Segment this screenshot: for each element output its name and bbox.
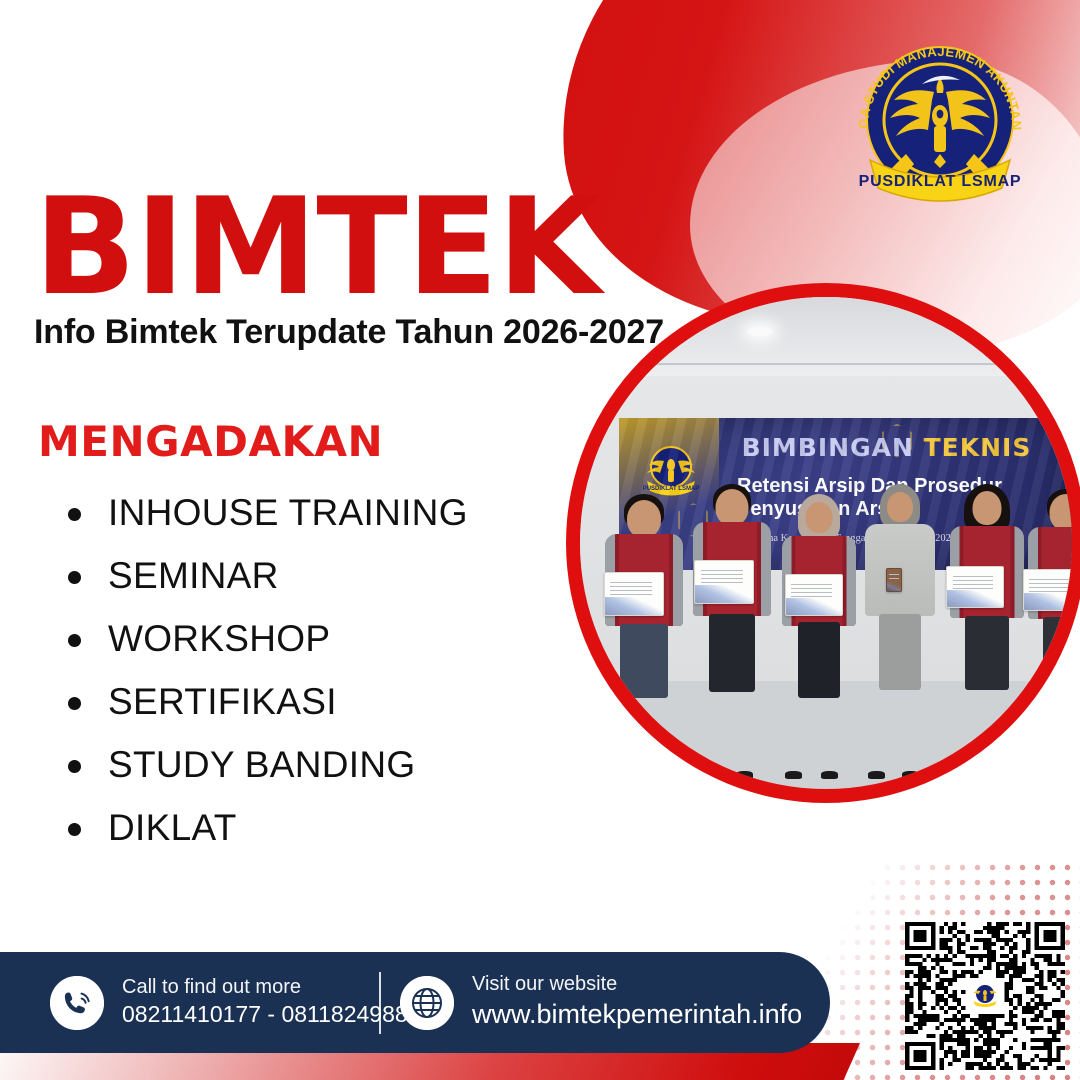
website-label: Visit our website bbox=[472, 972, 802, 997]
participant bbox=[688, 484, 776, 779]
logo-star: ★ bbox=[935, 140, 946, 154]
globe-icon bbox=[400, 976, 454, 1030]
logo-banner-text: PUSDIKLAT LSMAP bbox=[859, 173, 1022, 190]
participant bbox=[944, 484, 1030, 779]
page-title: BIMTEK bbox=[34, 186, 664, 309]
list-item: SEMINAR bbox=[60, 555, 468, 597]
services-list: INHOUSE TRAINING SEMINAR WORKSHOP SERTIF… bbox=[60, 492, 468, 870]
pusdiklat-lsmap-logo: LEMBAGA STUDI MANAJEMEN AKUNTANSI DAN PE… bbox=[830, 20, 1050, 205]
list-item: SERTIFIKASI bbox=[60, 681, 468, 723]
contact-website-group[interactable]: Visit our website www.bimtekpemerintah.i… bbox=[400, 952, 802, 1053]
poster-canvas: LEMBAGA STUDI MANAJEMEN AKUNTANSI DAN PE… bbox=[0, 0, 1080, 1080]
participant bbox=[860, 484, 940, 779]
participant bbox=[777, 494, 861, 779]
page-subtitle: Info Bimtek Terupdate Tahun 2026-2027 bbox=[34, 313, 664, 352]
section-title: MENGADAKAN bbox=[38, 417, 383, 466]
qr-code[interactable] bbox=[905, 922, 1065, 1070]
website-url[interactable]: www.bimtekpemerintah.info bbox=[472, 997, 802, 1032]
photo-ring-border: PUSDIKLAT LSMAP ❯❯❯ BIMBINGAN TEKNIS Ret… bbox=[566, 283, 1080, 803]
qr-center-logo bbox=[972, 984, 999, 1008]
event-photo: PUSDIKLAT LSMAP ❯❯❯ BIMBINGAN TEKNIS Ret… bbox=[580, 297, 1072, 789]
list-item: DIKLAT bbox=[60, 807, 468, 849]
banner-title-word2: TEKNIS bbox=[924, 433, 1032, 462]
banner-title-word1: BIMBINGAN bbox=[742, 433, 914, 462]
phone-call-icon bbox=[50, 976, 104, 1030]
list-item: STUDY BANDING bbox=[60, 744, 468, 786]
footer-divider bbox=[379, 972, 381, 1034]
phone-label: Call to find out more bbox=[122, 975, 420, 1000]
contact-footer-bar: Call to find out more 08211410177 - 0811… bbox=[0, 952, 830, 1053]
list-item: INHOUSE TRAINING bbox=[60, 492, 468, 534]
participant bbox=[1023, 489, 1072, 779]
list-item: WORKSHOP bbox=[60, 618, 468, 660]
headline-block: BIMTEK Info Bimtek Terupdate Tahun 2026-… bbox=[34, 186, 664, 352]
participant bbox=[600, 494, 688, 779]
phone-number[interactable]: 08211410177 - 08118249888 bbox=[122, 1000, 420, 1030]
contact-phone-group[interactable]: Call to find out more 08211410177 - 0811… bbox=[50, 952, 420, 1053]
banner-title: BIMBINGAN TEKNIS bbox=[742, 433, 1068, 462]
